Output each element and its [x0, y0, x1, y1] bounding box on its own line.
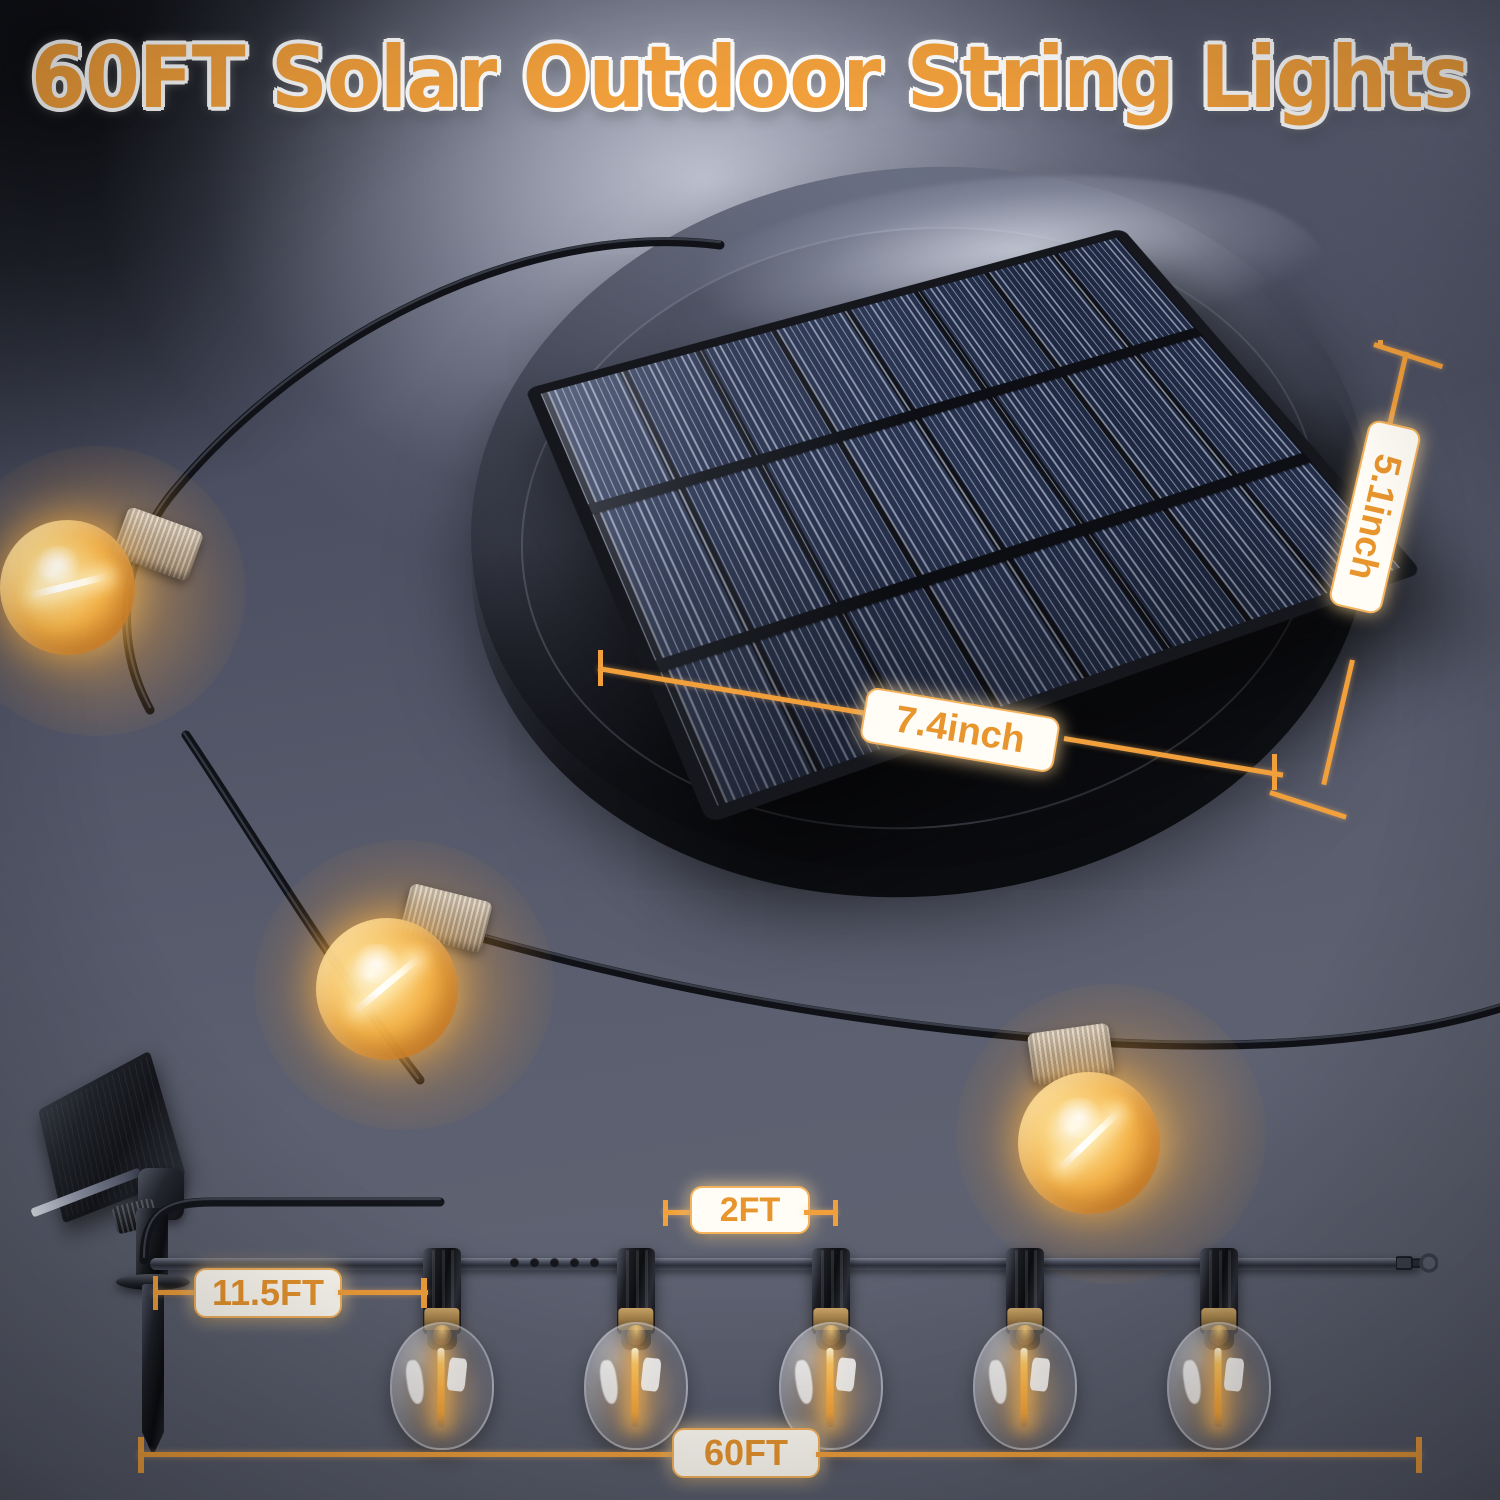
bulb-socket	[399, 883, 493, 954]
main-power-cable	[0, 190, 820, 1150]
dim-line-width-b	[1064, 736, 1284, 778]
dimension-badge-spacing-text: 2FT	[720, 1191, 780, 1230]
display-platform	[436, 123, 1404, 913]
dim-line-total-left	[138, 1452, 678, 1457]
dim-line-width-a	[598, 666, 871, 716]
string-bulb	[1167, 1322, 1271, 1450]
stake-spike	[142, 1284, 164, 1456]
dim-cap-lead-left	[153, 1276, 158, 1310]
bulb-socket	[1006, 1248, 1044, 1334]
product-image-canvas: 7.4inch 5.1inch	[0, 0, 1500, 1500]
string-bulb	[390, 1322, 494, 1450]
dim-line-total-right	[816, 1452, 1422, 1457]
bulb-filament	[437, 1348, 444, 1427]
bulb-base	[1007, 1308, 1042, 1330]
page-title: 60FT Solar Outdoor String Lights	[0, 28, 1500, 128]
solar-busbar	[655, 452, 1312, 672]
dim-cap-left	[598, 650, 603, 686]
bulb-glass	[584, 1322, 688, 1450]
display-platform-inner-ring	[491, 188, 1349, 868]
solar-busbar	[588, 327, 1203, 514]
bulb-socket	[812, 1248, 850, 1334]
lit-bulb	[1000, 1020, 1260, 1230]
dim-cap-2ft-right	[833, 1200, 838, 1226]
dimension-badge-lead: 11.5FT	[194, 1268, 342, 1318]
bulb-base	[618, 1308, 653, 1330]
dim-tick-bottom	[1269, 790, 1347, 819]
bulb-globe	[0, 520, 135, 655]
dimension-badge-lead-text: 11.5FT	[212, 1272, 324, 1314]
bulb-glass	[1167, 1322, 1271, 1450]
string-light-cable	[150, 1258, 1420, 1270]
string-bulb	[973, 1322, 1077, 1450]
floor-gradient	[0, 1010, 1500, 1500]
dim-line-lead-right	[338, 1290, 428, 1295]
bulb-filament	[1020, 1348, 1027, 1427]
bulb-socket	[1200, 1248, 1238, 1334]
dimension-badge-total: 60FT	[672, 1428, 820, 1478]
bulb-filament	[1057, 1108, 1122, 1171]
lit-bulb	[300, 880, 560, 1080]
stake-panel-edge	[30, 1168, 142, 1218]
stake-post	[136, 1208, 168, 1280]
bulb-globe	[1018, 1072, 1160, 1214]
dim-cap-2ft-left	[663, 1200, 668, 1226]
bulb-base	[424, 1308, 459, 1330]
bulb-base	[1201, 1308, 1236, 1330]
dimension-badge-panel-height-text: 5.1inch	[1340, 450, 1410, 584]
bulb-globe	[316, 918, 458, 1060]
bulb-glass	[390, 1322, 494, 1450]
dimension-badge-panel-width-text: 7.4inch	[892, 698, 1028, 762]
dim-line-height-b	[1321, 659, 1355, 785]
string-bulb	[584, 1322, 688, 1450]
bulb-socket	[112, 506, 205, 582]
bulb-filament	[30, 572, 109, 598]
dim-cap-lead-right	[421, 1278, 427, 1308]
stake-adjust-knob	[111, 1197, 159, 1234]
bulb-filament	[1214, 1348, 1221, 1427]
dim-line-lead-left	[153, 1290, 198, 1295]
dimension-badge-spacing: 2FT	[690, 1186, 810, 1234]
stake-hinge	[138, 1168, 184, 1220]
display-platform-highlight	[629, 145, 1341, 466]
dimension-badge-panel-height: 5.1inch	[1327, 418, 1422, 615]
dimension-badge-panel-width: 7.4inch	[859, 686, 1062, 774]
dim-cap-total-right	[1416, 1437, 1422, 1473]
dim-cap-total-left	[138, 1437, 144, 1473]
bulb-base	[813, 1308, 848, 1330]
bulb-filament	[354, 954, 423, 1013]
bulb-filament	[826, 1348, 833, 1427]
bulb-glass	[973, 1322, 1077, 1450]
stake-solar-panel	[38, 1051, 186, 1224]
bulb-socket	[423, 1248, 461, 1334]
dim-cap-top-dot	[1378, 340, 1383, 345]
bulb-socket	[617, 1248, 655, 1334]
dim-cap-right	[1272, 754, 1277, 790]
dim-tick-top	[1373, 342, 1443, 369]
bulb-filament	[631, 1348, 638, 1427]
main-power-cable-lower	[400, 880, 1500, 1140]
bulb-socket	[1027, 1023, 1115, 1086]
stake-collar	[116, 1274, 190, 1290]
cable-continuation-dots	[510, 1258, 599, 1267]
lit-bulb	[0, 490, 250, 690]
display-platform-edge	[436, 151, 1404, 941]
hanging-loop-connector	[1396, 1250, 1438, 1276]
dimension-badge-total-text: 60FT	[704, 1432, 788, 1474]
